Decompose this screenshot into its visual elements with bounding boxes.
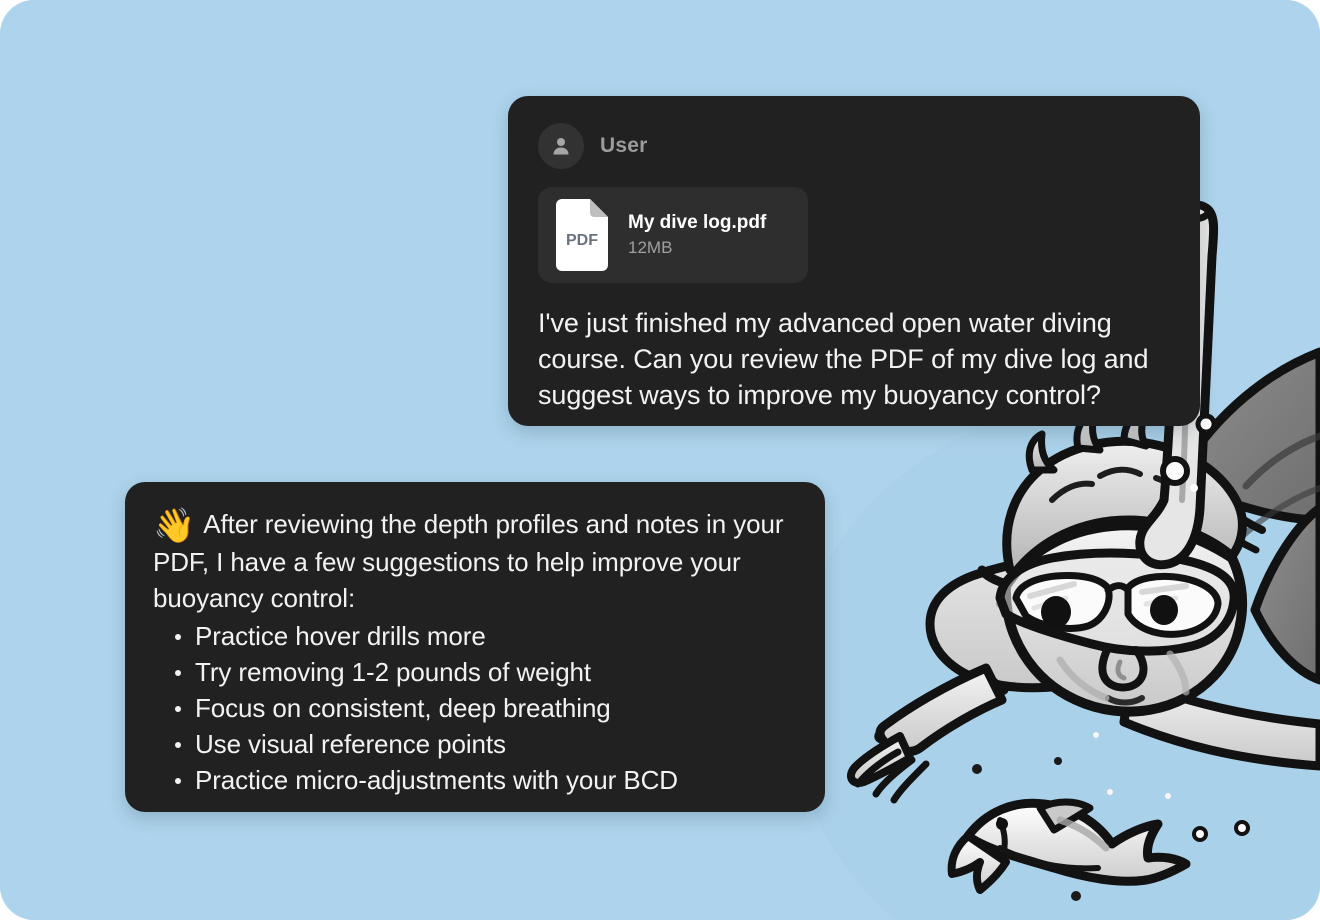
user-message-bubble: User PDF My dive log.pdf 12MB I've just … [508,96,1200,426]
user-message-text: I've just finished my advanced open wate… [538,305,1172,413]
pdf-attachment-card[interactable]: PDF My dive log.pdf 12MB [538,187,808,283]
list-item: Focus on consistent, deep breathing [153,690,799,726]
screenshot-canvas: User PDF My dive log.pdf 12MB I've just … [0,0,1320,920]
list-item: Use visual reference points [153,726,799,762]
suggestions-list: Practice hover drills more Try removing … [153,618,799,798]
user-message-header: User [538,122,1172,170]
chat-conversation: User PDF My dive log.pdf 12MB I've just … [0,0,1320,920]
attachment-meta: My dive log.pdf 12MB [628,212,766,258]
message-author-label: User [600,134,648,158]
person-avatar-icon [538,123,584,169]
svg-text:PDF: PDF [566,232,598,249]
assistant-message-bubble: 👋After reviewing the depth profiles and … [125,482,825,812]
assistant-intro-text: After reviewing the depth profiles and n… [153,509,783,613]
waving-hand-emoji: 👋 [153,507,195,545]
pdf-file-icon: PDF [552,199,612,271]
attachment-filename: My dive log.pdf [628,212,766,234]
list-item: Try removing 1-2 pounds of weight [153,654,799,690]
attachment-filesize: 12MB [628,238,766,258]
assistant-intro-paragraph: 👋After reviewing the depth profiles and … [153,506,799,616]
list-item: Practice hover drills more [153,618,799,654]
list-item: Practice micro-adjustments with your BCD [153,762,799,798]
